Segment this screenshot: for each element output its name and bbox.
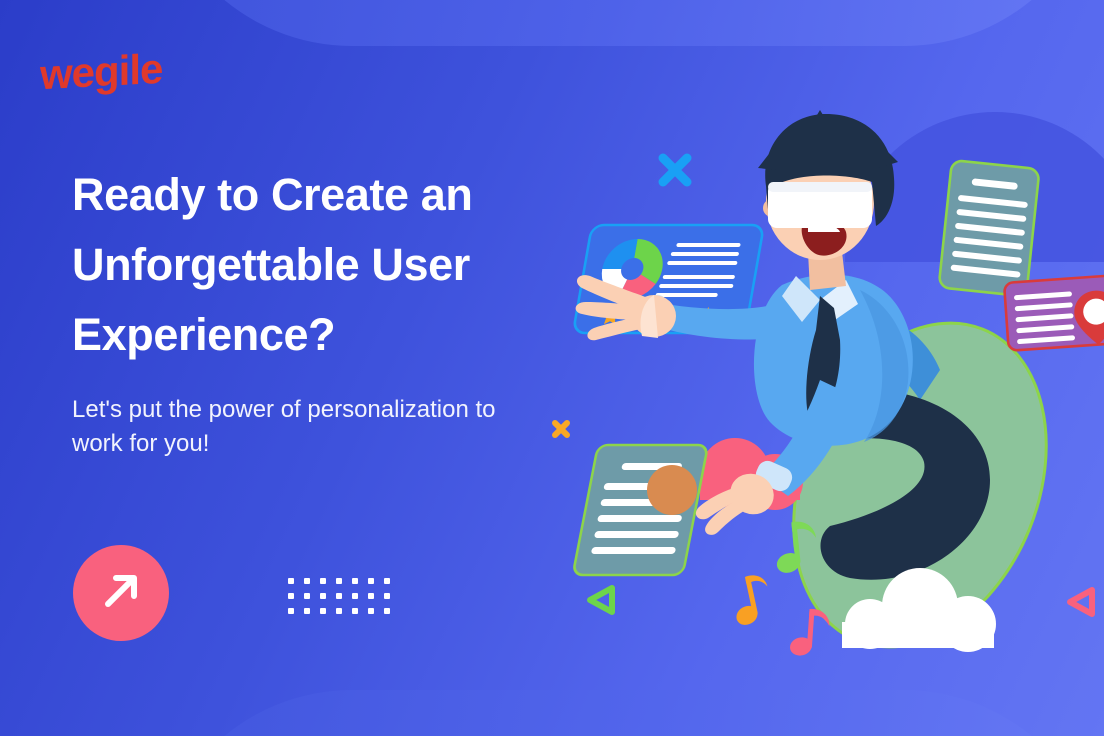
orange-circle-accent (647, 465, 697, 515)
play-triangle-left-icon-green (585, 583, 619, 622)
cta-arrow-button[interactable] (73, 545, 169, 641)
background-panel-bottom (152, 690, 1104, 736)
page-title: Ready to Create an Unforgettable User Ex… (72, 160, 572, 369)
music-note-orange (726, 572, 775, 629)
arrow-up-right-icon (97, 567, 145, 620)
document-card-bottom-left (573, 445, 708, 575)
brand-logo[interactable]: wegile (40, 45, 162, 99)
promo-banner: wegile Ready to Create an Unforgettable … (0, 0, 1104, 736)
close-x-icon-orange (550, 418, 572, 445)
music-note-pink (787, 607, 831, 660)
hero-illustration (520, 90, 1104, 660)
dot-grid-left (288, 578, 400, 623)
close-x-icon-cyan (655, 150, 695, 195)
page-subtitle: Let's put the power of personalization t… (72, 393, 512, 461)
background-panel-top (152, 0, 1104, 46)
play-triangle-left-icon-pink (1065, 585, 1099, 624)
location-card (1004, 275, 1104, 351)
document-card-top-right (939, 160, 1040, 296)
